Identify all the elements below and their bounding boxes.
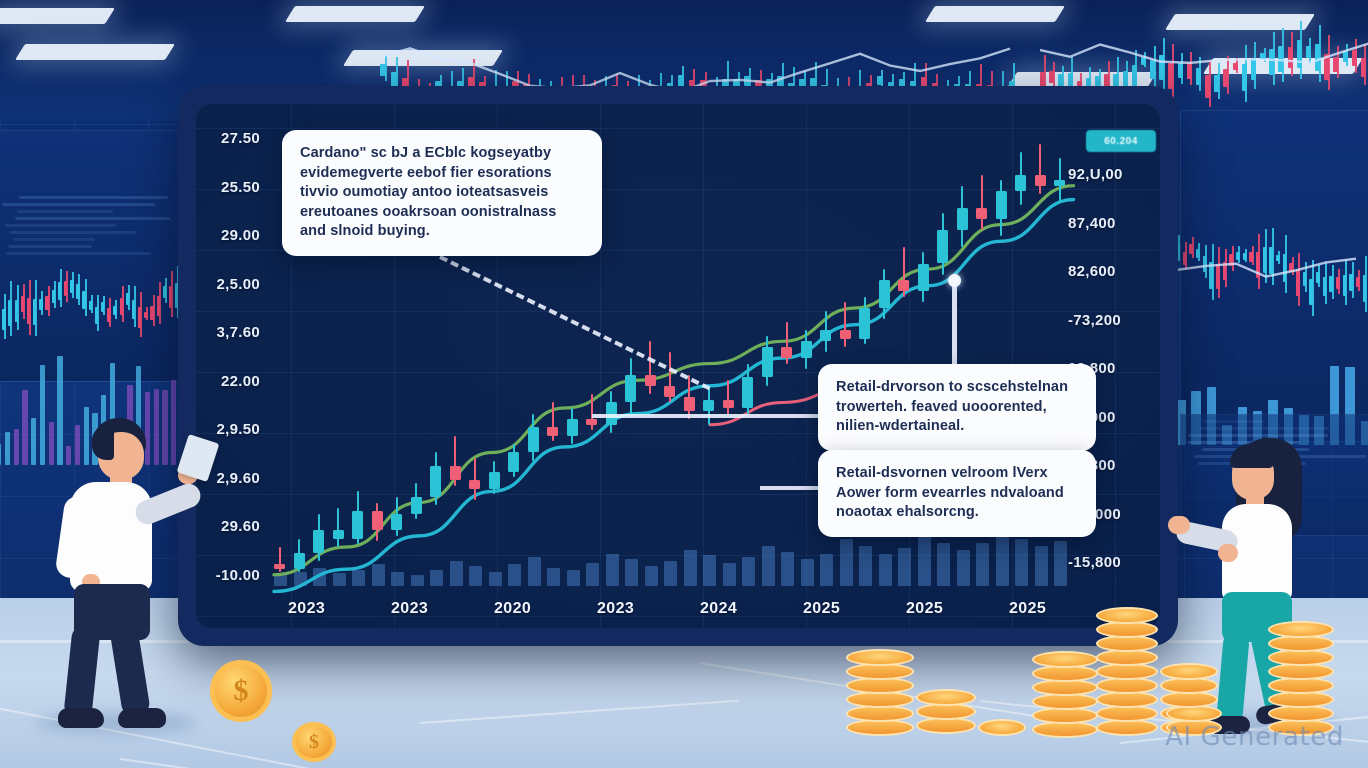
y-tick-right: -15,800	[1068, 554, 1158, 571]
candle-body	[625, 375, 636, 403]
callout-mid[interactable]: Retail-drvorson to scscehstelnan trowert…	[818, 364, 1096, 451]
ceiling-light	[0, 8, 115, 24]
candle-body	[430, 466, 441, 497]
background-candle-body	[169, 286, 172, 308]
coin	[1096, 607, 1158, 624]
background-candle-body	[132, 300, 135, 319]
background-candle-body	[64, 281, 67, 296]
data-point-marker[interactable]	[948, 274, 961, 287]
candle-body	[1054, 180, 1065, 186]
coin	[1160, 663, 1218, 680]
candle-body	[703, 400, 714, 411]
x-tick: 2025	[803, 600, 840, 618]
callout-low[interactable]: Retail-dsvornen velroom lVerx Aower form…	[818, 450, 1096, 537]
candle-body	[1035, 175, 1046, 186]
candle-wick	[337, 508, 339, 547]
leader-line-low	[760, 486, 820, 490]
x-tick: 2025	[906, 600, 943, 618]
background-chart-right	[1176, 110, 1368, 350]
y-tick-left: 29.00	[198, 227, 260, 244]
x-tick: 2023	[391, 600, 428, 618]
candle-body	[1015, 175, 1026, 192]
candle-body	[313, 530, 324, 552]
y-tick-right: 92,U,00	[1068, 166, 1158, 183]
candle-body	[976, 208, 987, 219]
candle-body	[333, 530, 344, 538]
woman-hand-out	[1168, 516, 1190, 534]
background-candle-body	[120, 298, 123, 315]
y-tick-left: 25.50	[198, 179, 260, 196]
background-ticker-line	[1200, 427, 1329, 430]
man-shoe-back	[58, 708, 104, 728]
candle-body	[742, 377, 753, 408]
background-candle-body	[39, 299, 42, 310]
background-candle-body	[157, 296, 160, 316]
background-candle-body	[138, 307, 141, 329]
background-candle-body	[89, 301, 92, 310]
background-ticker-line	[15, 217, 170, 220]
candle-body	[820, 330, 831, 341]
background-ticker-line	[6, 252, 151, 255]
candle-wick	[1039, 144, 1041, 194]
woman-hand-front	[1218, 544, 1238, 562]
callout-main[interactable]: Cardano" sc bJ a ECblc kogseyatby evidem…	[282, 130, 602, 256]
background-candle-body	[58, 282, 61, 300]
person-analyst-man	[30, 418, 220, 730]
candle-body	[664, 386, 675, 397]
background-ticker-line	[17, 210, 113, 213]
candle-body	[996, 191, 1007, 219]
background-ticker-line	[10, 231, 136, 234]
callout-main-text: Cardano" sc bJ a ECblc kogseyatby evidem…	[300, 145, 556, 239]
background-candle-body	[45, 296, 48, 310]
candle-body	[801, 341, 812, 358]
woman-hair-front	[1230, 444, 1274, 468]
candle-wick	[844, 302, 846, 346]
man-leg-back	[63, 625, 100, 719]
price-badge[interactable]: 60.204	[1086, 130, 1156, 152]
candle-body	[879, 280, 890, 308]
candle-body	[450, 466, 461, 480]
coin-dollar-symbol: $	[234, 674, 249, 708]
ai-watermark: AI Generated	[1165, 722, 1344, 752]
callout-mid-text: Retail-drvorson to scscehstelnan trowert…	[836, 379, 1068, 434]
background-volume-bar	[14, 429, 19, 465]
candle-body	[469, 480, 480, 488]
background-candle-body	[76, 284, 79, 299]
coin-dollar-large: $	[210, 660, 272, 722]
candle-wick	[649, 341, 651, 394]
candle-body	[840, 330, 851, 338]
coin-dollar-symbol-small: $	[309, 731, 319, 754]
background-candle-body	[150, 306, 153, 321]
background-candle-body	[2, 309, 5, 330]
x-tick: 2023	[288, 600, 325, 618]
candle-body	[391, 514, 402, 531]
man-shoe-front	[118, 708, 166, 728]
candle-body	[723, 400, 734, 408]
candle-body	[547, 427, 558, 435]
candle-body	[937, 230, 948, 263]
candle-body	[918, 264, 929, 292]
y-tick-left: 2,5.00	[198, 276, 260, 293]
candle-body	[762, 347, 773, 378]
candle-wick	[981, 175, 983, 231]
background-candle-body	[21, 296, 24, 313]
candle-body	[586, 419, 597, 425]
y-tick-left: 27.50	[198, 130, 260, 147]
coin	[1268, 621, 1334, 638]
x-tick: 2020	[494, 600, 531, 618]
background-ticker-rows	[0, 196, 170, 266]
background-volume-bar	[22, 390, 27, 465]
background-volume-bar	[0, 444, 1, 465]
candle-body	[567, 419, 578, 436]
candle-body	[957, 208, 968, 230]
background-candle-body	[33, 299, 36, 325]
background-ticker-line	[19, 196, 167, 199]
candle-body	[372, 511, 383, 530]
candle-wick	[474, 458, 476, 500]
coin-dollar-small: $	[292, 722, 336, 762]
coin	[846, 649, 914, 666]
y-tick-right: 82,600	[1068, 263, 1158, 280]
candle-body	[859, 308, 870, 339]
coin	[1032, 651, 1098, 668]
background-ticker-line	[2, 203, 154, 206]
coin-stack-3	[978, 712, 1026, 736]
background-candle-body	[70, 280, 73, 292]
candle-wick	[591, 394, 593, 430]
coin-stack-7	[1268, 612, 1334, 736]
y-tick-right: -73,200	[1068, 312, 1158, 329]
candle-body	[294, 553, 305, 570]
background-ticker-line	[5, 224, 115, 227]
background-candle-body	[126, 293, 129, 305]
background-candle-body	[27, 298, 30, 324]
candle-wick	[727, 380, 729, 416]
x-tick: 2024	[700, 600, 737, 618]
background-ticker-line	[8, 245, 93, 248]
background-candle-body	[52, 290, 55, 303]
coin-stack-4	[1032, 638, 1098, 738]
y-tick-left: 3,7.60	[198, 324, 260, 341]
candle-body	[489, 472, 500, 489]
callout-low-text: Retail-dsvornen velroom lVerx Aower form…	[836, 465, 1064, 520]
candle-body	[411, 497, 422, 514]
illustration-canvas: 27.5025.5029.002,5.003,7.6022.002,9.502,…	[0, 0, 1368, 768]
x-tick: 2025	[1009, 600, 1046, 618]
background-trendline	[1176, 110, 1368, 340]
background-volume-bar	[5, 432, 10, 465]
background-ticker-line	[1203, 420, 1264, 423]
candle-body	[352, 511, 363, 539]
coin-stack-1	[846, 640, 914, 736]
candle-body	[684, 397, 695, 411]
coin	[978, 719, 1026, 736]
ceiling-light	[15, 44, 175, 60]
coin-stack-2	[916, 680, 976, 734]
man-hair-side	[92, 426, 114, 460]
background-candle-body	[8, 300, 11, 326]
coin-stack-5	[1096, 596, 1158, 736]
x-tick: 2023	[597, 600, 634, 618]
background-candle-body	[101, 302, 104, 311]
leader-line-mid	[592, 414, 820, 418]
candle-body	[781, 347, 792, 358]
background-candle-body	[144, 312, 147, 318]
background-ticker-line	[13, 238, 95, 241]
y-tick-left: 22.00	[198, 373, 260, 390]
background-candle-body	[163, 286, 166, 298]
candle-body	[528, 427, 539, 452]
background-candle-body	[95, 307, 98, 324]
background-candle-body	[82, 291, 85, 309]
background-candle-body	[107, 308, 110, 322]
candle-body	[645, 375, 656, 386]
background-candle-body	[15, 300, 18, 321]
coin	[916, 689, 976, 706]
y-tick-right: 87,400	[1068, 215, 1158, 232]
candle-body	[508, 452, 519, 471]
candle-body	[898, 280, 909, 291]
candle-body	[274, 564, 285, 570]
background-candle-body	[113, 306, 116, 315]
